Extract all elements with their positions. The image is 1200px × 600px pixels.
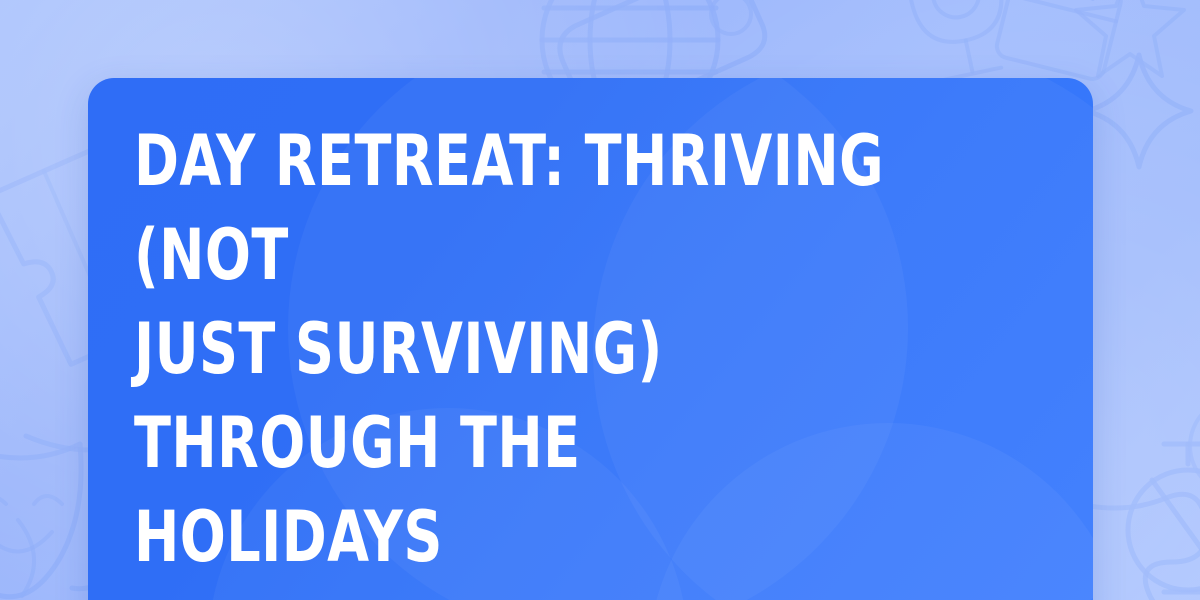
event-title: DAY RETREAT: THRIVING (NOT JUST SURVIVIN… xyxy=(134,114,919,584)
star-icon xyxy=(1076,0,1184,76)
event-card: DAY RETREAT: THRIVING (NOT JUST SURVIVIN… xyxy=(88,78,1093,600)
lantern-icon xyxy=(1128,444,1200,592)
confetti-icon xyxy=(0,520,34,600)
card-content: DAY RETREAT: THRIVING (NOT JUST SURVIVIN… xyxy=(88,78,1093,600)
event-banner: DAY RETREAT: THRIVING (NOT JUST SURVIVIN… xyxy=(0,0,1200,600)
